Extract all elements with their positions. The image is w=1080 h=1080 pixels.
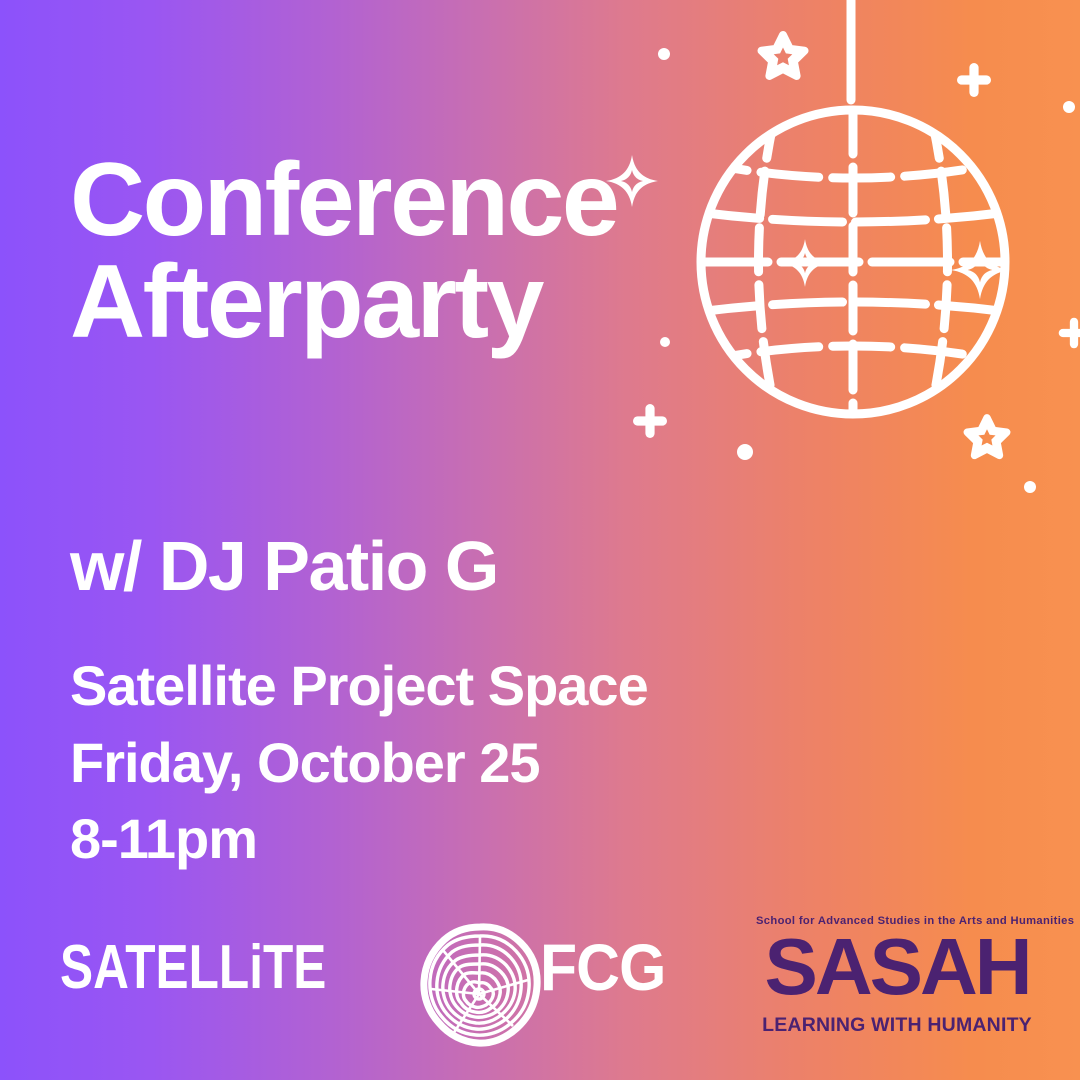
star-5point-icon [967, 418, 1007, 456]
satellite-logo: SATELLiTE [60, 937, 326, 999]
event-details: Satellite Project Space Friday, October … [70, 648, 648, 878]
dot-icon [1024, 481, 1036, 493]
sparkle-4point-icon [951, 241, 1009, 299]
tree-ring-icon [418, 923, 542, 1047]
star-5point-icon [762, 35, 805, 76]
performer-line: w/ DJ Patio G [70, 531, 498, 601]
disco-ball-icon [690, 108, 1016, 416]
plus-icon [1059, 318, 1080, 349]
sasah-wordmark: SASAH [752, 927, 1042, 1007]
dot-icon [737, 444, 753, 460]
plus-icon [957, 63, 991, 97]
dot-icon [658, 48, 670, 60]
sasah-tagline-bottom: LEARNING WITH HUMANITY [752, 1014, 1042, 1037]
fcg-logo: FCG [540, 934, 665, 1000]
page-title: Conference Afterparty [70, 150, 710, 354]
sasah-logo: School for Advanced Studies in the Arts … [752, 915, 1042, 1040]
dot-icon [1063, 101, 1075, 113]
plus-icon [633, 404, 667, 438]
event-poster: Conference Afterparty w/ DJ Patio G Sate… [0, 0, 1080, 1080]
logo-row: SATELLiTE FCG School fo [0, 905, 1080, 1055]
